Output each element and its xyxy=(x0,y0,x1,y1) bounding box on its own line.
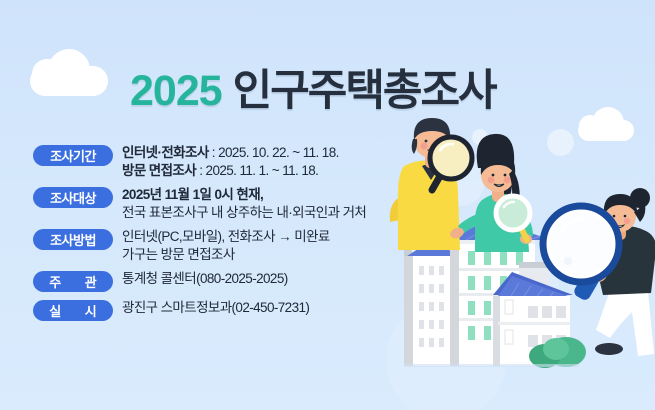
info-text-survey-period: 인터넷·전화조사 : 2025. 10. 22. ~ 11. 18. 방문 면접… xyxy=(122,144,339,179)
survey-method-line1: 인터넷(PC,모바일), 전화조사 → 미완료 xyxy=(122,229,330,244)
badge-survey-target: 조사대상 xyxy=(33,187,113,208)
executor-value: 광진구 스마트정보과(02-450-7231) xyxy=(122,300,309,315)
census-poster: 2025 인구주택총조사 조사기간 인터넷·전화조사 : 2025. 10. 2… xyxy=(0,0,655,410)
page-title: 2025 인구주택총조사 xyxy=(130,56,496,118)
info-text-executor: 광진구 스마트정보과(02-450-7231) xyxy=(122,299,309,317)
organizer-value: 통계청 콜센터(080-2025-2025) xyxy=(122,271,288,286)
bubble-decor-3 xyxy=(606,225,628,247)
title-main: 인구주택총조사 xyxy=(233,56,496,118)
cloud-icon-left xyxy=(30,66,108,96)
info-text-survey-target: 2025년 11월 1일 0시 현재, 전국 표본조사구 내 상주하는 내·외국… xyxy=(122,186,366,221)
badge-survey-period: 조사기간 xyxy=(33,145,113,166)
info-row-survey-target: 조사대상 2025년 11월 1일 0시 현재, 전국 표본조사구 내 상주하는… xyxy=(33,186,453,221)
bubble-decor-4 xyxy=(486,276,512,302)
survey-period-line2-value: : 2025. 11. 1. ~ 11. 18. xyxy=(196,163,318,178)
info-row-survey-method: 조사방법 인터넷(PC,모바일), 전화조사 → 미완료 가구는 방문 면접조사 xyxy=(33,228,453,263)
cloud-icon-right xyxy=(578,120,634,141)
bubble-decor-1 xyxy=(472,129,488,145)
info-text-survey-method: 인터넷(PC,모바일), 전화조사 → 미완료 가구는 방문 면접조사 xyxy=(122,228,330,263)
survey-period-line1-value: : 2025. 10. 22. ~ 11. 18. xyxy=(209,145,339,160)
title-year: 2025 xyxy=(130,67,222,116)
survey-target-line2: 전국 표본조사구 내 상주하는 내·외국인과 거처 xyxy=(122,205,366,220)
magnifier-icon-large xyxy=(543,206,619,302)
person-dark-shirt xyxy=(543,188,655,356)
info-row-survey-period: 조사기간 인터넷·전화조사 : 2025. 10. 22. ~ 11. 18. … xyxy=(33,144,453,179)
info-row-organizer: 주 관 통계청 콜센터(080-2025-2025) xyxy=(33,270,453,292)
info-row-executor: 실 시 광진구 스마트정보과(02-450-7231) xyxy=(33,299,453,321)
info-text-organizer: 통계청 콜센터(080-2025-2025) xyxy=(122,270,288,288)
survey-period-line2-label: 방문 면접조사 xyxy=(122,163,196,178)
bubble-decor-6 xyxy=(500,246,560,306)
badge-executor: 실 시 xyxy=(33,300,113,321)
person-teal-shirt xyxy=(449,134,533,252)
survey-method-line2: 가구는 방문 면접조사 xyxy=(122,247,235,262)
census-info-list: 조사기간 인터넷·전화조사 : 2025. 10. 22. ~ 11. 18. … xyxy=(33,144,453,328)
survey-period-line1-label: 인터넷·전화조사 xyxy=(122,145,209,160)
bubble-decor-2 xyxy=(547,129,574,156)
badge-organizer: 주 관 xyxy=(33,271,113,292)
badge-survey-method: 조사방법 xyxy=(33,229,113,250)
survey-target-line1: 2025년 11월 1일 0시 현재, xyxy=(122,187,263,202)
bush-decor xyxy=(529,337,586,368)
magnifier-icon-teal xyxy=(496,196,530,240)
